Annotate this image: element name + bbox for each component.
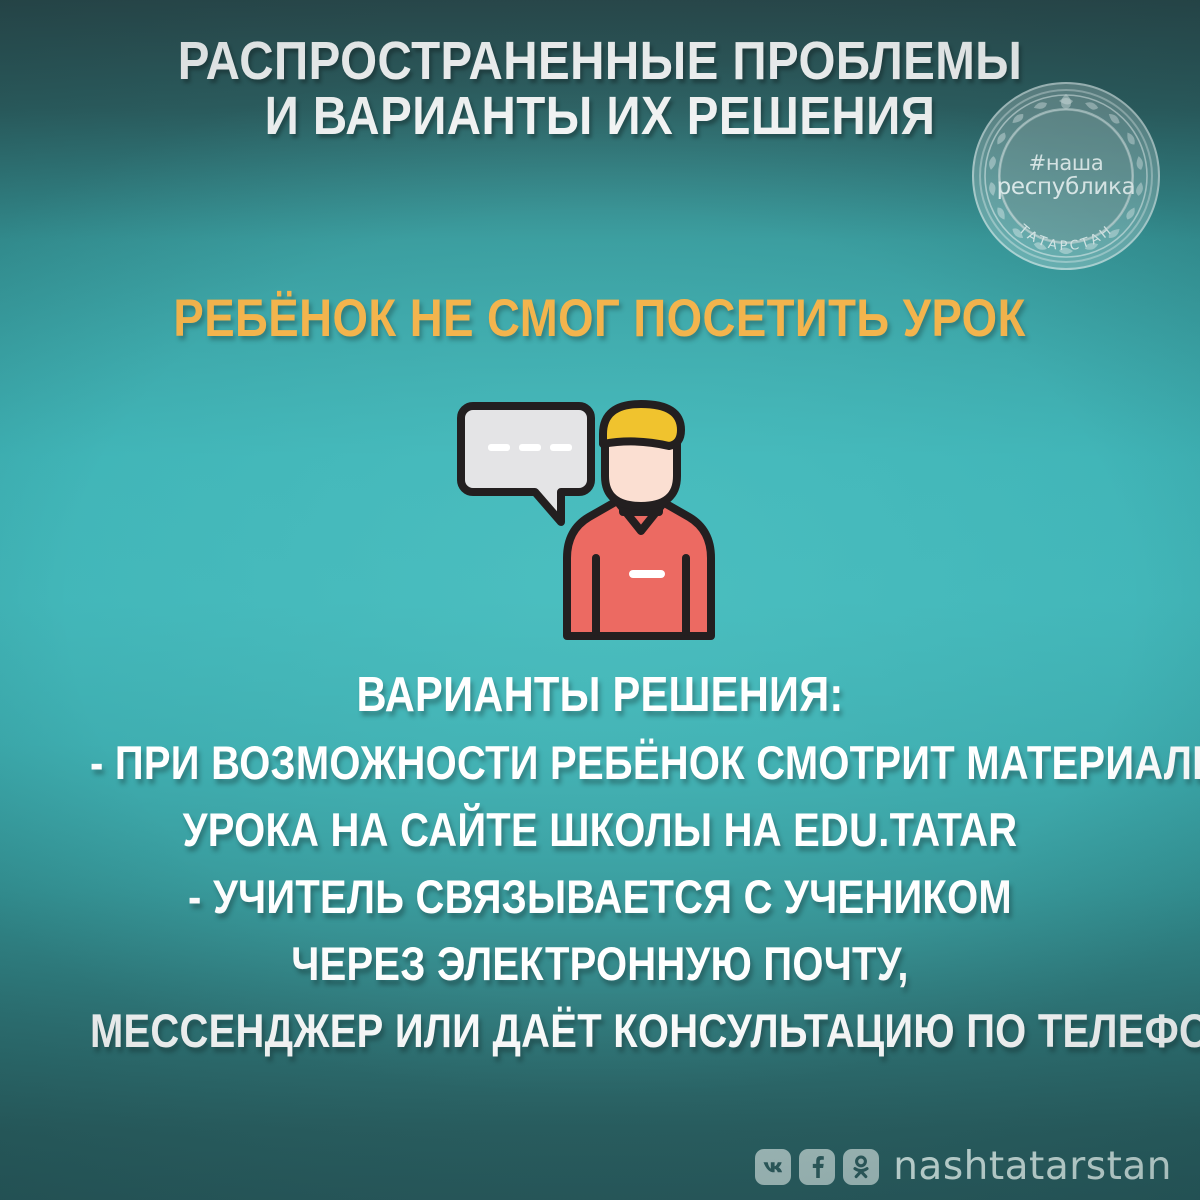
badge-line-1: #наша xyxy=(1029,152,1104,174)
title-line-1: РАСПРОСТРАНЕННЫЕ ПРОБЛЕМЫ xyxy=(72,34,1128,89)
title-line-2: И ВАРИАНТЫ ИХ РЕШЕНИЯ xyxy=(72,89,1128,144)
solution-line-1: - ПРИ ВОЗМОЖНОСТИ РЕБЁНОК СМОТРИТ МАТЕРИ… xyxy=(90,729,1110,796)
head-shape xyxy=(603,404,681,506)
solutions-text-block: ВАРИАНТЫ РЕШЕНИЯ: - ПРИ ВОЗМОЖНОСТИ РЕБЁ… xyxy=(0,662,1200,1064)
problem-headline-text: РЕБЁНОК НЕ СМОГ ПОСЕТИТЬ УРОК xyxy=(174,288,1026,349)
problem-headline: РЕБЁНОК НЕ СМОГ ПОСЕТИТЬ УРОК xyxy=(0,288,1200,349)
footer-bar: nashtatarstan xyxy=(0,1147,1200,1186)
solution-line-2: УРОКА НА САЙТЕ ШКОЛЫ НА EDU.TATAR xyxy=(90,796,1110,863)
vk-icon[interactable] xyxy=(755,1149,791,1185)
hoodie-shape xyxy=(567,501,711,636)
solution-line-5: МЕССЕНДЖЕР ИЛИ ДАЁТ КОНСУЛЬТАЦИЮ ПО ТЕЛЕ… xyxy=(90,997,1110,1064)
student-illustration xyxy=(455,392,735,644)
account-handle: nashtatarstan xyxy=(893,1147,1172,1186)
speech-bubble-icon xyxy=(461,406,591,522)
solutions-heading: ВАРИАНТЫ РЕШЕНИЯ: xyxy=(90,662,1110,729)
badge-core: #наша республика xyxy=(998,108,1134,244)
poster-canvas: РАСПРОСТРАНЕННЫЕ ПРОБЛЕМЫ И ВАРИАНТЫ ИХ … xyxy=(0,0,1200,1200)
social-icons xyxy=(755,1149,879,1185)
facebook-icon[interactable] xyxy=(799,1149,835,1185)
solution-line-4: ЧЕРЕЗ ЭЛЕКТРОННУЮ ПОЧТУ, xyxy=(90,930,1110,997)
badge-line-2: республика xyxy=(997,175,1136,199)
nasha-respublika-badge: #наша республика ТАТАРСТАН xyxy=(972,82,1160,270)
odnoklassniki-icon[interactable] xyxy=(843,1149,879,1185)
solution-line-3: - УЧИТЕЛЬ СВЯЗЫВАЕТСЯ С УЧЕНИКОМ xyxy=(90,863,1110,930)
